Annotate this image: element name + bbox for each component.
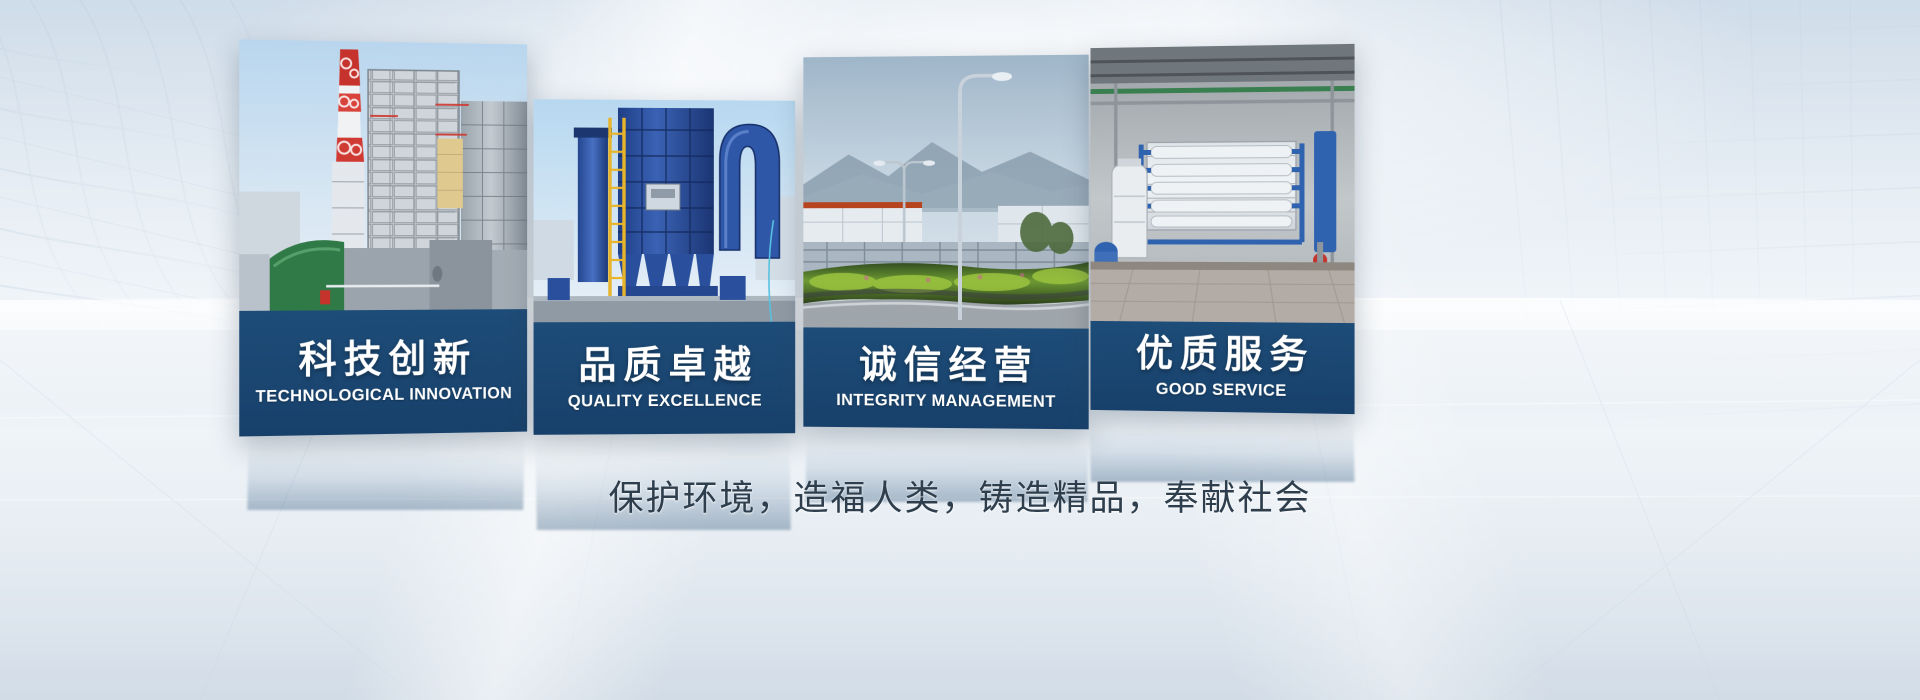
hero-banner: 科技创新 TECHNOLOGICAL INNOVATION bbox=[0, 0, 1920, 700]
card-title-cn-1: 科技创新 bbox=[291, 338, 477, 383]
card-title-cn-3: 诚信经营 bbox=[852, 345, 1039, 389]
card-banner-technological-innovation: 科技创新 TECHNOLOGICAL INNOVATION bbox=[239, 309, 527, 436]
feature-card-good-service[interactable]: 优质服务 GOOD SERVICE bbox=[1091, 44, 1355, 414]
card-title-en-1: TECHNOLOGICAL INNOVATION bbox=[255, 383, 512, 407]
card-photo-quality-excellence bbox=[534, 99, 796, 322]
feature-card-integrity-management[interactable]: 诚信经营 INTEGRITY MANAGEMENT bbox=[803, 55, 1088, 430]
card-banner-good-service: 优质服务 GOOD SERVICE bbox=[1091, 321, 1355, 414]
card-banner-quality-excellence: 品质卓越 QUALITY EXCELLENCE bbox=[534, 322, 796, 435]
card-title-cn-4: 优质服务 bbox=[1129, 333, 1315, 378]
hero-tagline: 保护环境，造福人类，铸造精品，奉献社会 bbox=[0, 470, 1920, 521]
card-title-cn-2: 品质卓越 bbox=[571, 345, 758, 388]
card-photo-integrity-management bbox=[803, 55, 1088, 329]
card-banner-integrity-management: 诚信经营 INTEGRITY MANAGEMENT bbox=[803, 327, 1088, 429]
card-photo-good-service bbox=[1091, 44, 1355, 323]
card-photo-technological-innovation bbox=[239, 39, 527, 310]
feature-card-technological-innovation[interactable]: 科技创新 TECHNOLOGICAL INNOVATION bbox=[239, 39, 527, 436]
card-title-en-3: INTEGRITY MANAGEMENT bbox=[836, 390, 1055, 412]
card-title-en-4: GOOD SERVICE bbox=[1156, 379, 1287, 401]
feature-card-quality-excellence[interactable]: 品质卓越 QUALITY EXCELLENCE bbox=[534, 99, 796, 435]
card-title-en-2: QUALITY EXCELLENCE bbox=[568, 390, 762, 411]
